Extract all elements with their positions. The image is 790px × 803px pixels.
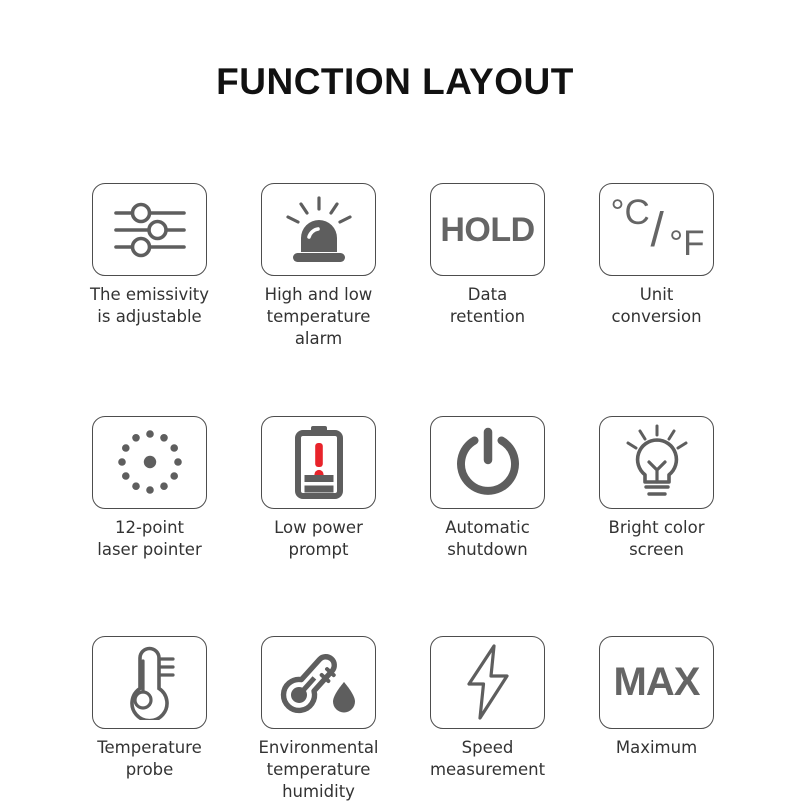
feature-item-speed-measurement[interactable]: Speed measurement: [429, 636, 546, 803]
feature-icon-box[interactable]: [261, 416, 376, 509]
unit-separator-icon: /: [651, 207, 664, 255]
feature-item-the-emissivity-is-adjustable[interactable]: The emissivity is adjustable: [91, 183, 208, 350]
feature-icon-box[interactable]: [261, 183, 376, 276]
feature-label: Unit conversion: [582, 284, 732, 328]
celsius-label: °C: [611, 195, 650, 230]
feature-item-maximum[interactable]: MAX Maximum: [598, 636, 715, 803]
feature-icon-box[interactable]: [92, 636, 207, 729]
low-battery-icon: [290, 424, 348, 500]
feature-grid: The emissivity is adjustable High and lo…: [91, 183, 715, 803]
feature-item-low-power-prompt[interactable]: Low power prompt: [260, 416, 377, 561]
feature-label: The emissivity is adjustable: [75, 284, 225, 328]
feature-icon-box[interactable]: [599, 416, 714, 509]
feature-label: Temperature probe: [75, 737, 225, 781]
feature-label: Automatic shutdown: [413, 517, 563, 561]
feature-item-data-retention[interactable]: HOLD Data retention: [429, 183, 546, 350]
feature-item-bright-color-screen[interactable]: Bright color screen: [598, 416, 715, 561]
thermometer-humidity-icon: [276, 646, 362, 718]
feature-item-environmental-temperature-humidity[interactable]: Environmental temperature humidity: [260, 636, 377, 803]
feature-label: Low power prompt: [244, 517, 394, 561]
feature-icon-box[interactable]: °C / °F: [599, 183, 714, 276]
feature-icon-box[interactable]: MAX: [599, 636, 714, 729]
feature-label: 12-point laser pointer: [75, 517, 225, 561]
feature-item-temperature-probe[interactable]: Temperature probe: [91, 636, 208, 803]
max-text-icon: MAX: [614, 662, 700, 702]
sliders-icon: [110, 200, 190, 260]
feature-icon-box[interactable]: HOLD: [430, 183, 545, 276]
alarm-siren-icon: [279, 196, 359, 264]
lightning-bolt-icon: [460, 643, 516, 721]
feature-label: Data retention: [413, 284, 563, 328]
thermometer-icon: [119, 644, 181, 720]
feature-label: Maximum: [582, 737, 732, 759]
feature-icon-box[interactable]: [92, 416, 207, 509]
celsius-fahrenheit-icon: °C / °F: [607, 193, 707, 267]
page-title: FUNCTION LAYOUT: [0, 62, 790, 103]
feature-item-unit-conversion[interactable]: °C / °F Unit conversion: [598, 183, 715, 350]
feature-label: High and low temperature alarm: [244, 284, 394, 350]
feature-icon-box[interactable]: [430, 636, 545, 729]
feature-label: Speed measurement: [413, 737, 563, 781]
lightbulb-icon: [620, 424, 694, 500]
feature-label: Bright color screen: [582, 517, 732, 561]
feature-item-12-point-laser-pointer[interactable]: 12-point laser pointer: [91, 416, 208, 561]
feature-icon-box[interactable]: [430, 416, 545, 509]
feature-item-automatic-shutdown[interactable]: Automatic shutdown: [429, 416, 546, 561]
hold-text-icon: HOLD: [440, 213, 534, 247]
laser-dots-icon: [114, 426, 186, 498]
feature-icon-box[interactable]: [92, 183, 207, 276]
power-button-icon: [454, 426, 522, 498]
fahrenheit-label: °F: [669, 226, 704, 261]
feature-icon-box[interactable]: [261, 636, 376, 729]
feature-item-high-and-low-temperature-alarm[interactable]: High and low temperature alarm: [260, 183, 377, 350]
feature-label: Environmental temperature humidity: [244, 737, 394, 803]
